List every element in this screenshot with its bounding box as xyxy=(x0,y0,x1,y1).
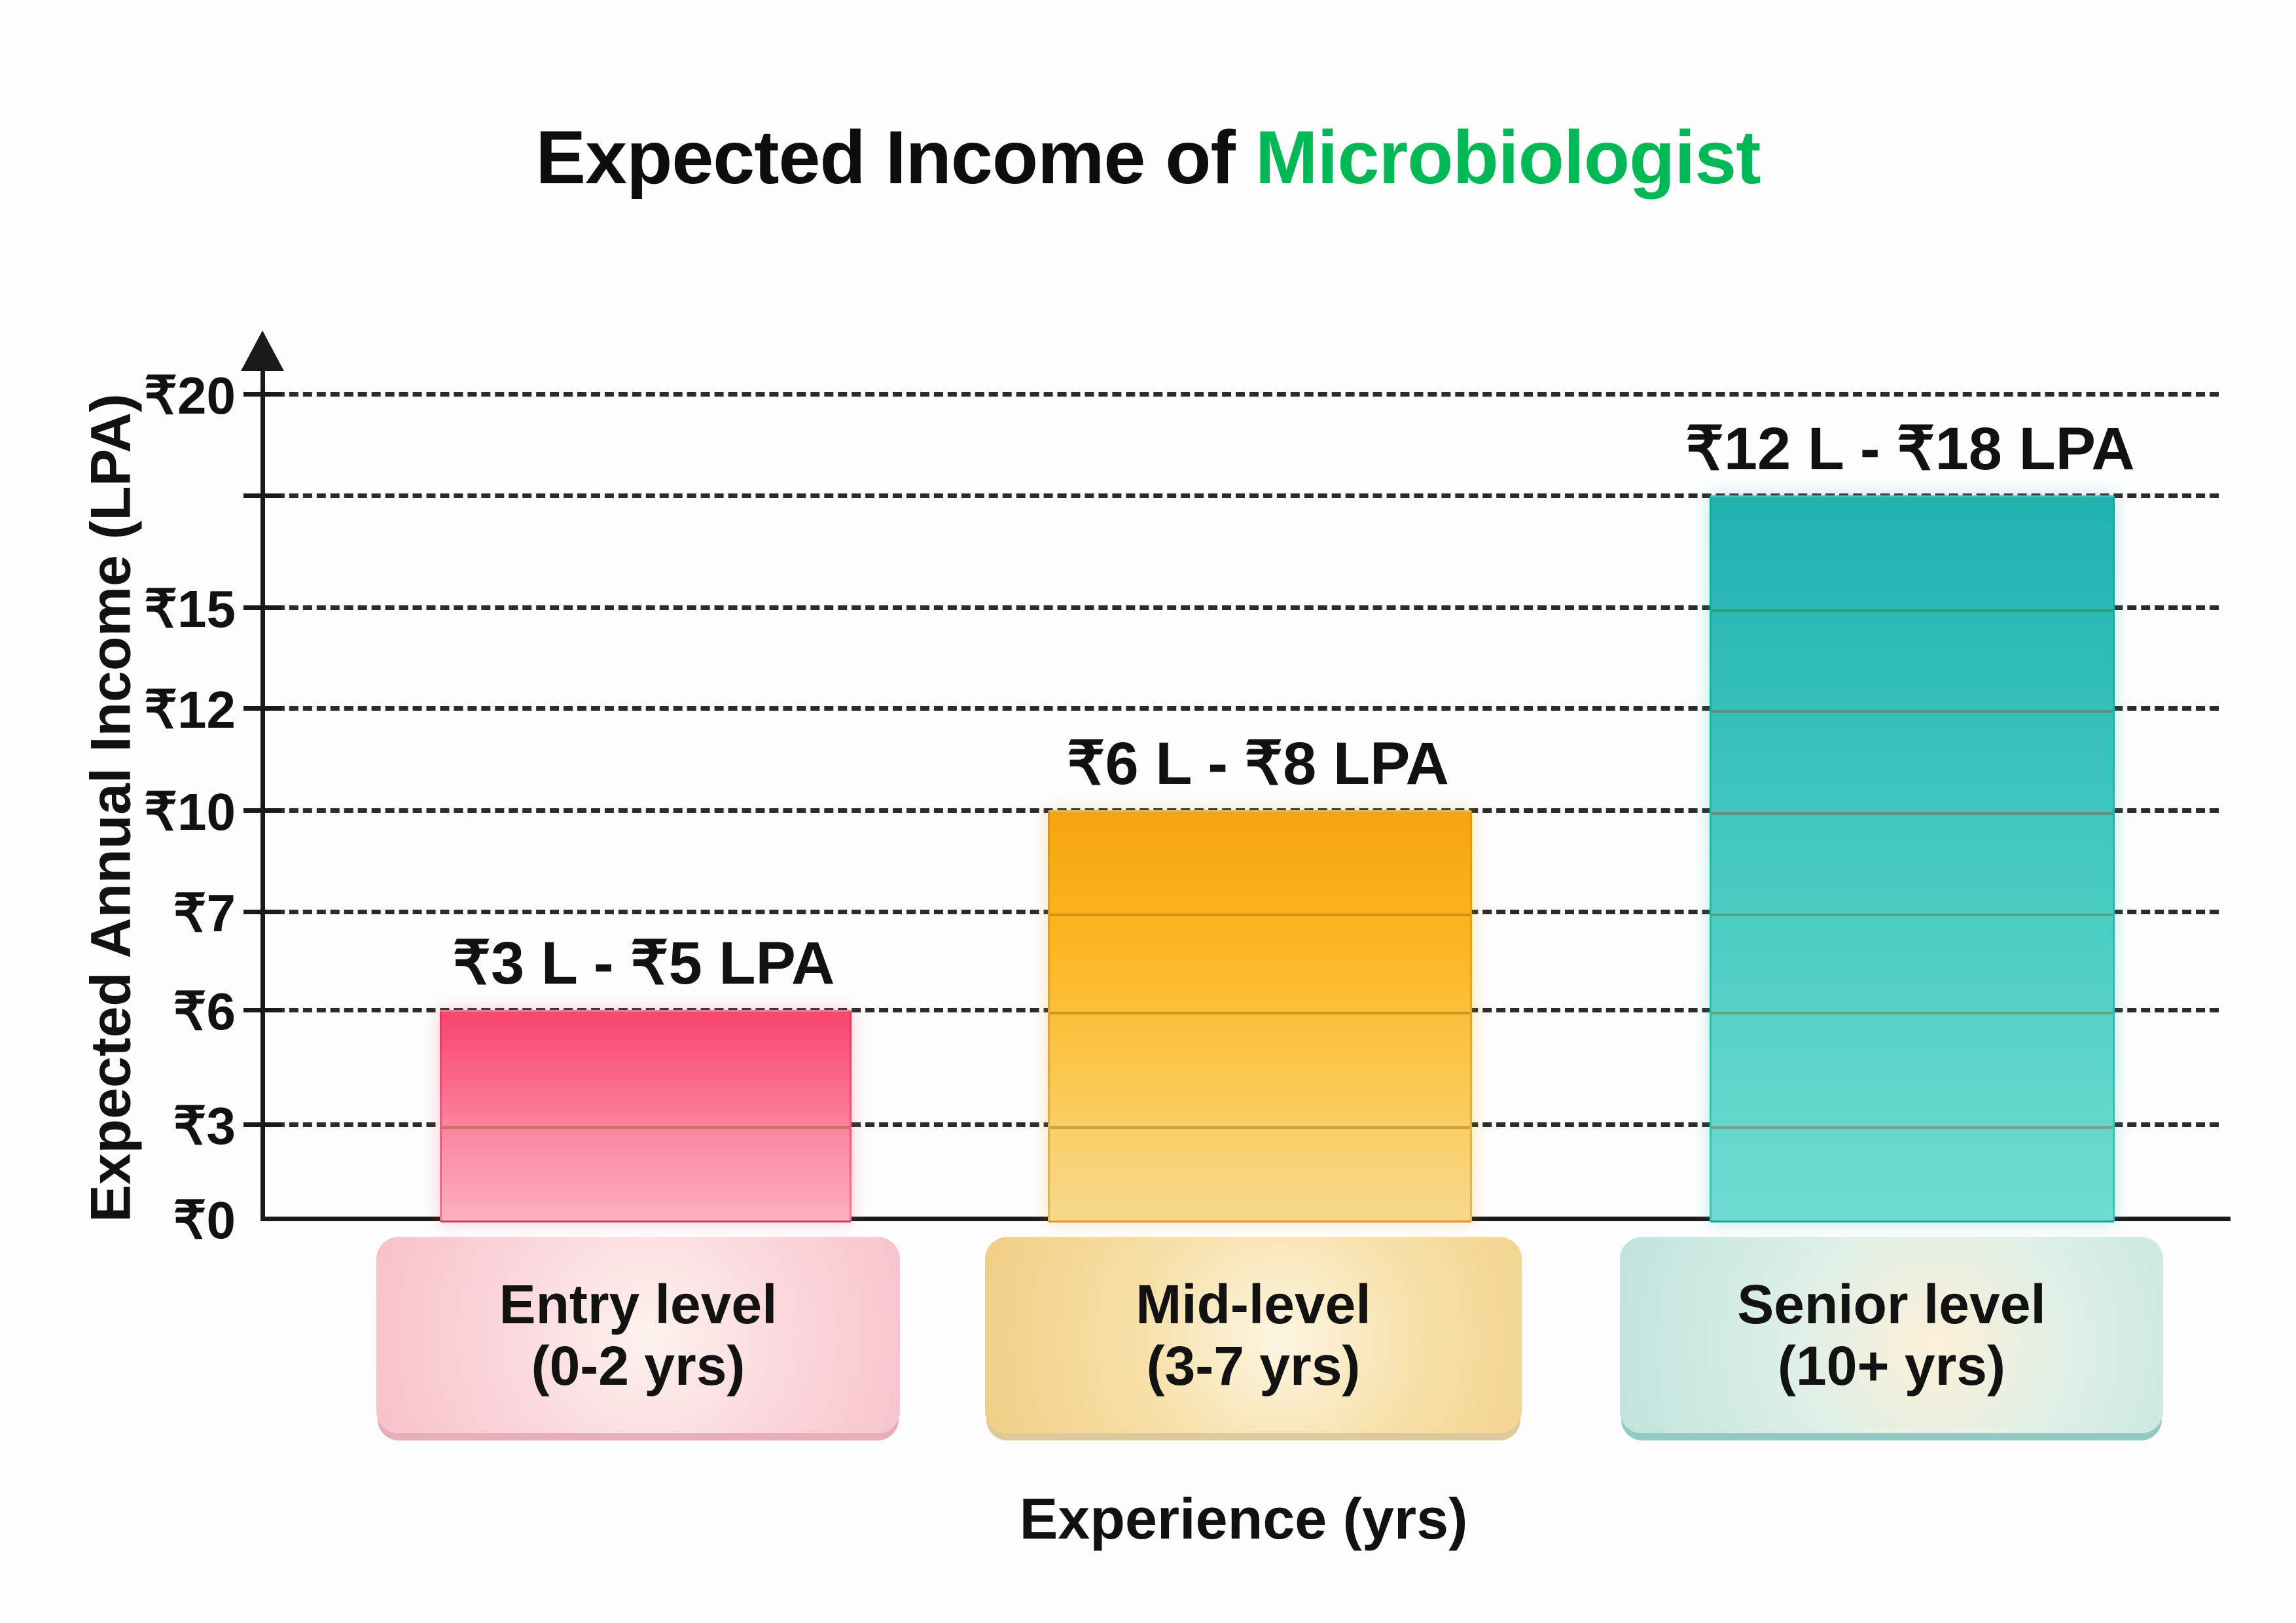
bar-segment-line xyxy=(1050,1126,1470,1129)
bar-value-label-entry-level: ₹3 L - ₹5 LPA xyxy=(322,928,965,998)
category-sublabel: (3-7 yrs) xyxy=(1147,1335,1361,1397)
category-pill-entry-level[interactable]: Entry level(0-2 yrs) xyxy=(376,1237,900,1433)
category-label: Entry level xyxy=(499,1274,778,1335)
plot-area: Expected Annual Income (LPA) Experience … xyxy=(0,0,2296,1623)
category-label: Mid-level xyxy=(1136,1274,1371,1335)
y-tick-mark-10 xyxy=(243,808,281,813)
y-axis-arrow-icon xyxy=(241,330,284,371)
y-tick-mark-7 xyxy=(243,910,281,914)
chart-canvas: Expected Income of Microbiologist Expect… xyxy=(0,0,2296,1623)
category-pill-senior-level[interactable]: Senior level(10+ yrs) xyxy=(1620,1237,2163,1433)
y-tick-text: ₹0 xyxy=(39,1190,236,1251)
y-tick-text: ₹6 xyxy=(39,981,236,1042)
bar-value-label-senior-level: ₹12 L - ₹18 LPA xyxy=(1592,414,2229,484)
bar-segment-line xyxy=(1712,609,2113,612)
bar-segment-line xyxy=(1712,1012,2113,1014)
y-tick-text: ₹10 xyxy=(39,781,236,842)
bar-segment-line xyxy=(1712,914,2113,916)
bar-segment-line xyxy=(1050,1012,1470,1014)
y-tick-text: ₹20 xyxy=(39,365,236,426)
y-tick-text: ₹7 xyxy=(39,883,236,944)
category-pill-mid-level[interactable]: Mid-level(3-7 yrs) xyxy=(985,1237,1522,1433)
bar-segment-line xyxy=(1050,914,1470,916)
category-sublabel: (10+ yrs) xyxy=(1778,1335,2005,1397)
bar-segment-line xyxy=(1712,710,2113,713)
bar-entry-level[interactable] xyxy=(440,1010,852,1222)
bar-mid-level[interactable] xyxy=(1048,810,1472,1222)
y-tick-mark-15 xyxy=(243,605,281,610)
bar-segment-line xyxy=(442,1126,850,1129)
y-tick-mark-3 xyxy=(243,1122,281,1127)
y-tick-text: ₹15 xyxy=(39,579,236,639)
y-tick-mark-18 xyxy=(243,493,281,498)
category-label: Senior level xyxy=(1737,1274,2046,1335)
bar-segment-line xyxy=(1712,812,2113,815)
bar-segment-line xyxy=(1712,1126,2113,1129)
y-tick-mark-6 xyxy=(243,1008,281,1012)
y-tick-mark-12 xyxy=(243,706,281,711)
gridline-20 xyxy=(262,392,2219,397)
bar-senior-level[interactable] xyxy=(1710,495,2115,1222)
category-sublabel: (0-2 yrs) xyxy=(531,1335,745,1397)
bar-value-label-mid-level: ₹6 L - ₹8 LPA xyxy=(930,728,1586,798)
y-tick-mark-20 xyxy=(243,392,281,397)
y-tick-text: ₹12 xyxy=(39,679,236,740)
y-tick-text: ₹3 xyxy=(39,1096,236,1156)
x-axis-label: Experience (yrs) xyxy=(262,1486,2225,1552)
